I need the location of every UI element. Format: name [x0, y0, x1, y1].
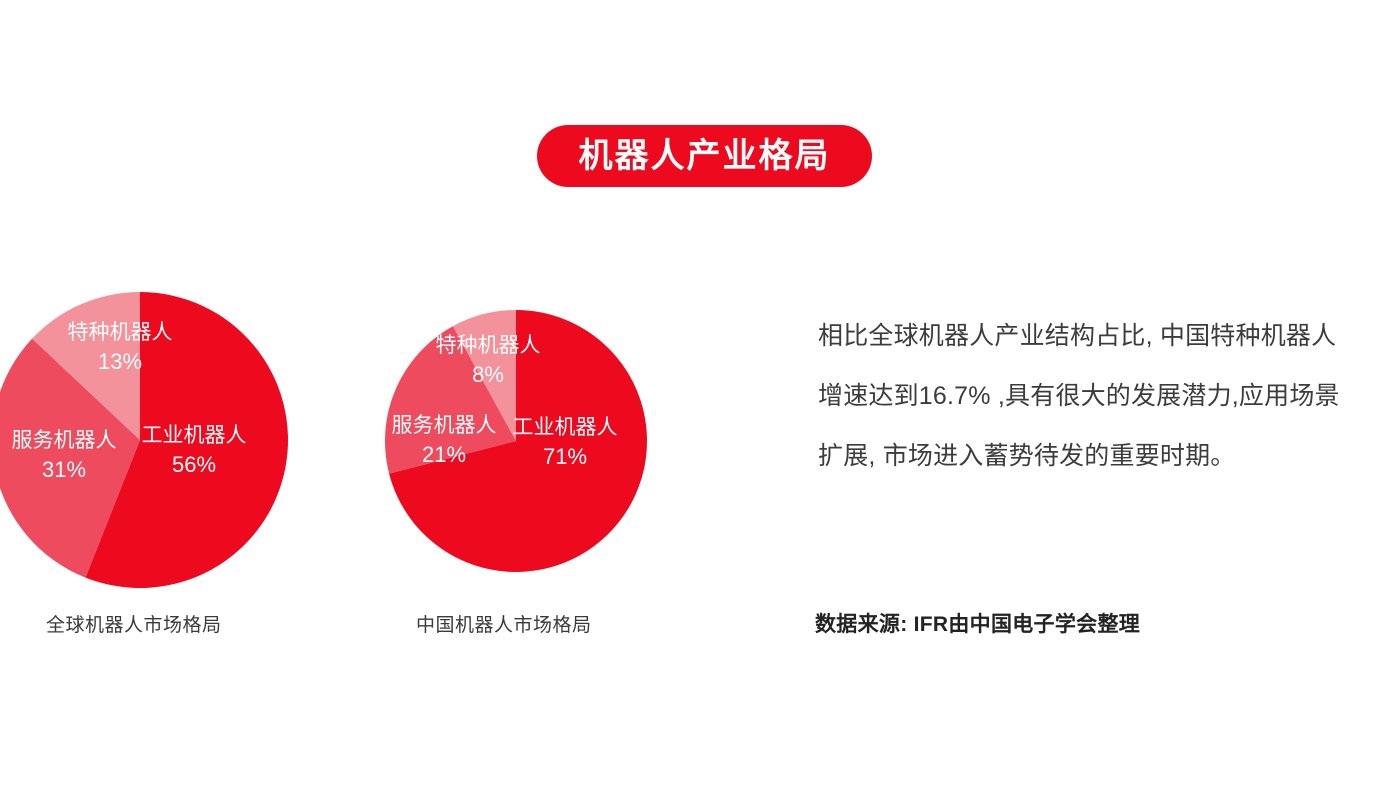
analysis-paragraph: 相比全球机器人产业结构占比, 中国特种机器人 增速达到16.7% ,具有很大的发… [818, 306, 1400, 486]
analysis-line-2: 增速达到16.7% ,具有很大的发展潜力,应用场景 [818, 366, 1400, 426]
pie-label-industrial-pct: 56% [172, 452, 216, 477]
pie-label-special-pct: 13% [98, 349, 142, 374]
analysis-line-3: 扩展, 市场进入蓄势待发的重要时期。 [818, 426, 1400, 486]
pie-label-service-pct: 31% [42, 457, 86, 482]
pie-label-service-name: 服务机器人 [392, 414, 497, 437]
pie-caption-global: 全球机器人市场格局 [46, 610, 222, 637]
pie-label-industrial-pct: 71% [543, 444, 587, 469]
pie-label-special-pct: 8% [472, 362, 504, 387]
pie-label-industrial-name: 工业机器人 [142, 424, 247, 447]
page-title-badge: 机器人产业格局 [537, 125, 872, 187]
pie-label-special-name: 特种机器人 [436, 334, 541, 357]
pie-label-special-name: 特种机器人 [68, 321, 173, 344]
pie-label-service-pct: 21% [422, 442, 466, 467]
pie-chart-china-svg: 工业机器人 71% 服务机器人 21% 特种机器人 8% [385, 310, 647, 572]
page-title: 机器人产业格局 [579, 139, 831, 173]
pie-chart-global-svg: 工业机器人 56% 服务机器人 31% 特种机器人 13% [0, 292, 288, 588]
pie-caption-china: 中国机器人市场格局 [416, 610, 592, 637]
pie-chart-global: 工业机器人 56% 服务机器人 31% 特种机器人 13% [0, 292, 288, 588]
analysis-line-1: 相比全球机器人产业结构占比, 中国特种机器人 [818, 306, 1400, 366]
data-source-note: 数据来源: IFR由中国电子学会整理 [815, 608, 1140, 638]
pie-label-service-name: 服务机器人 [12, 429, 117, 452]
pie-chart-china: 工业机器人 71% 服务机器人 21% 特种机器人 8% [385, 310, 647, 572]
pie-label-industrial-name: 工业机器人 [513, 416, 618, 439]
